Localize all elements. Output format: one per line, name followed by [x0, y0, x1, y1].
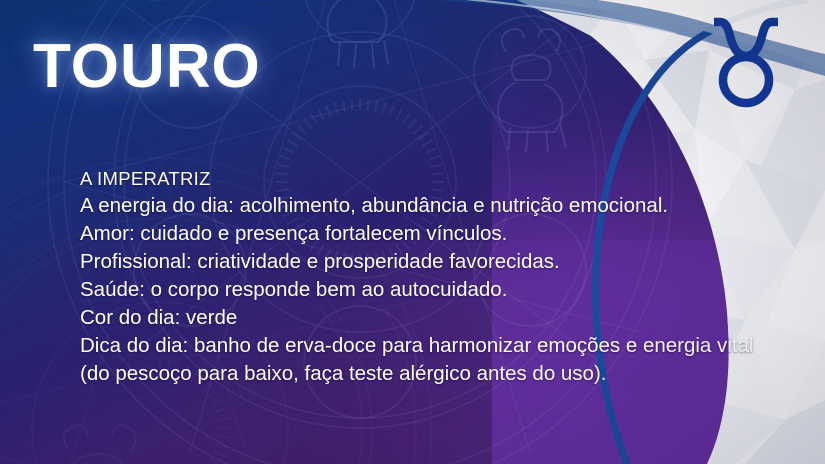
horoscope-card: TOURO A IMPERATRIZ A energia do dia: aco… [0, 0, 825, 464]
taurus-glyph-icon [700, 12, 792, 108]
horoscope-line: Saúde: o corpo responde bem ao autocuida… [80, 276, 780, 304]
horoscope-line: Dica do dia: banho de erva-doce para har… [80, 332, 780, 360]
page-title: TOURO [33, 36, 261, 98]
horoscope-heading: A IMPERATRIZ [80, 165, 780, 192]
horoscope-line: Cor do dia: verde [80, 304, 780, 332]
horoscope-line: Amor: cuidado e presença fortalecem vínc… [80, 220, 780, 248]
horoscope-line: A energia do dia: acolhimento, abundânci… [80, 192, 780, 220]
horoscope-line: (do pescoço para baixo, faça teste alérg… [80, 360, 780, 388]
horoscope-line: Profissional: criatividade e prosperidad… [80, 248, 780, 276]
horoscope-text-block: A IMPERATRIZ A energia do dia: acolhimen… [80, 165, 780, 388]
